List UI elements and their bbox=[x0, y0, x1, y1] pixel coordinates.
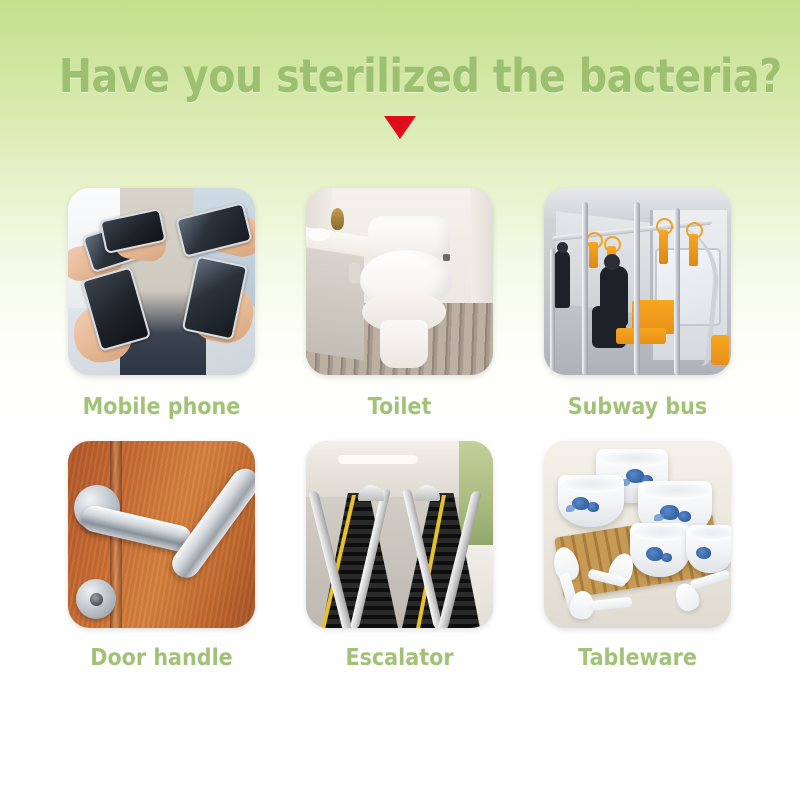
photo-door-handle bbox=[68, 441, 255, 628]
photo-tableware bbox=[544, 441, 731, 628]
grid-item-toilet[interactable]: Toilet bbox=[306, 188, 493, 421]
caption-tableware: Tableware bbox=[553, 644, 721, 672]
photo-toilet bbox=[306, 188, 493, 375]
image-card-toilet[interactable] bbox=[306, 188, 493, 375]
headline-container: Have you sterilized the bacteria? bbox=[0, 48, 800, 104]
image-card-mobile-phone[interactable] bbox=[68, 188, 255, 375]
caption-door-handle: Door handle bbox=[77, 644, 245, 672]
image-card-door-handle[interactable] bbox=[68, 441, 255, 628]
arrow-container bbox=[0, 116, 800, 146]
image-card-tableware[interactable] bbox=[544, 441, 731, 628]
grid-item-tableware[interactable]: Tableware bbox=[544, 441, 731, 672]
caption-escalator: Escalator bbox=[315, 644, 483, 672]
caption-mobile-phone: Mobile phone bbox=[77, 393, 245, 421]
image-card-subway-bus[interactable] bbox=[544, 188, 731, 375]
grid-item-escalator[interactable]: Escalator bbox=[306, 441, 493, 672]
red-down-triangle-icon bbox=[384, 116, 416, 139]
caption-toilet: Toilet bbox=[315, 393, 483, 421]
page-title: Have you sterilized the bacteria? bbox=[59, 48, 782, 104]
photo-escalator bbox=[306, 441, 493, 628]
photo-subway-bus bbox=[544, 188, 731, 375]
grid-item-door-handle[interactable]: Door handle bbox=[68, 441, 255, 672]
poster-root: Have you sterilized the bacteria? bbox=[0, 0, 800, 800]
photo-mobile-phone bbox=[68, 188, 255, 375]
bacteria-source-grid: Mobile phone bbox=[68, 188, 732, 672]
grid-item-mobile-phone[interactable]: Mobile phone bbox=[68, 188, 255, 421]
image-card-escalator[interactable] bbox=[306, 441, 493, 628]
grid-item-subway-bus[interactable]: Subway bus bbox=[544, 188, 731, 421]
caption-subway-bus: Subway bus bbox=[553, 393, 721, 421]
